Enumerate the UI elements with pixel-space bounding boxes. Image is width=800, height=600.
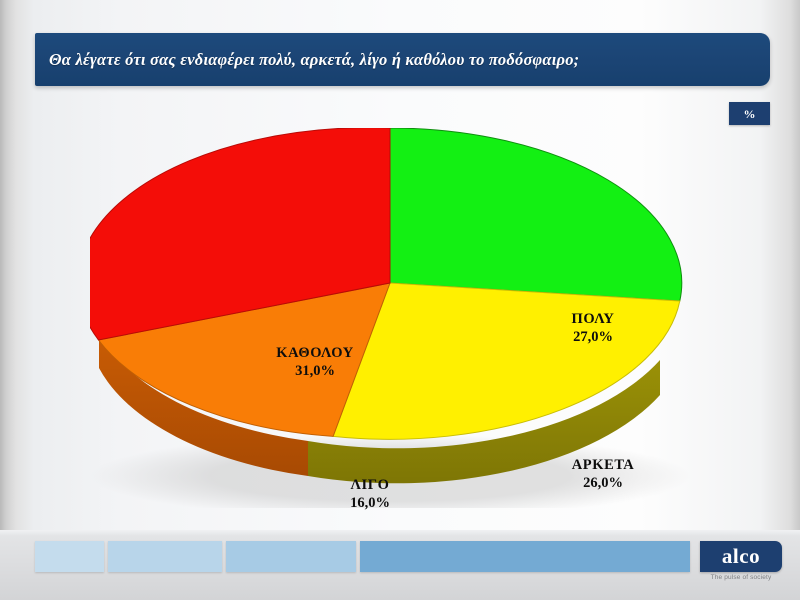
title-bar: Θα λέγατε ότι σας ενδιαφέρει πολύ, αρκετ… bbox=[35, 33, 770, 86]
alco-logo: alco bbox=[700, 541, 782, 572]
slide-canvas: Θα λέγατε ότι σας ενδιαφέρει πολύ, αρκετ… bbox=[0, 0, 800, 600]
footer-accent-bar-1 bbox=[35, 541, 104, 572]
alco-logo-tagline: The pulse of society bbox=[700, 574, 782, 581]
pie-chart: ΠΟΛΥ 27,0% ΑΡΚΕΤΑ 26,0% ΛΙΓΟ 16,0% ΚΑΘΟΛ… bbox=[90, 128, 710, 508]
page-title: Θα λέγατε ότι σας ενδιαφέρει πολύ, αρκετ… bbox=[35, 50, 579, 70]
pie-slice-poly bbox=[390, 128, 682, 301]
pie-chart-svg bbox=[90, 128, 710, 508]
alco-logo-text: alco bbox=[722, 546, 760, 567]
footer-accent-bar-4 bbox=[360, 541, 690, 572]
unit-badge: % bbox=[729, 102, 770, 125]
unit-badge-label: % bbox=[744, 108, 756, 120]
footer-accent-bar-3 bbox=[226, 541, 356, 572]
footer-accent-bar-2 bbox=[108, 541, 222, 572]
